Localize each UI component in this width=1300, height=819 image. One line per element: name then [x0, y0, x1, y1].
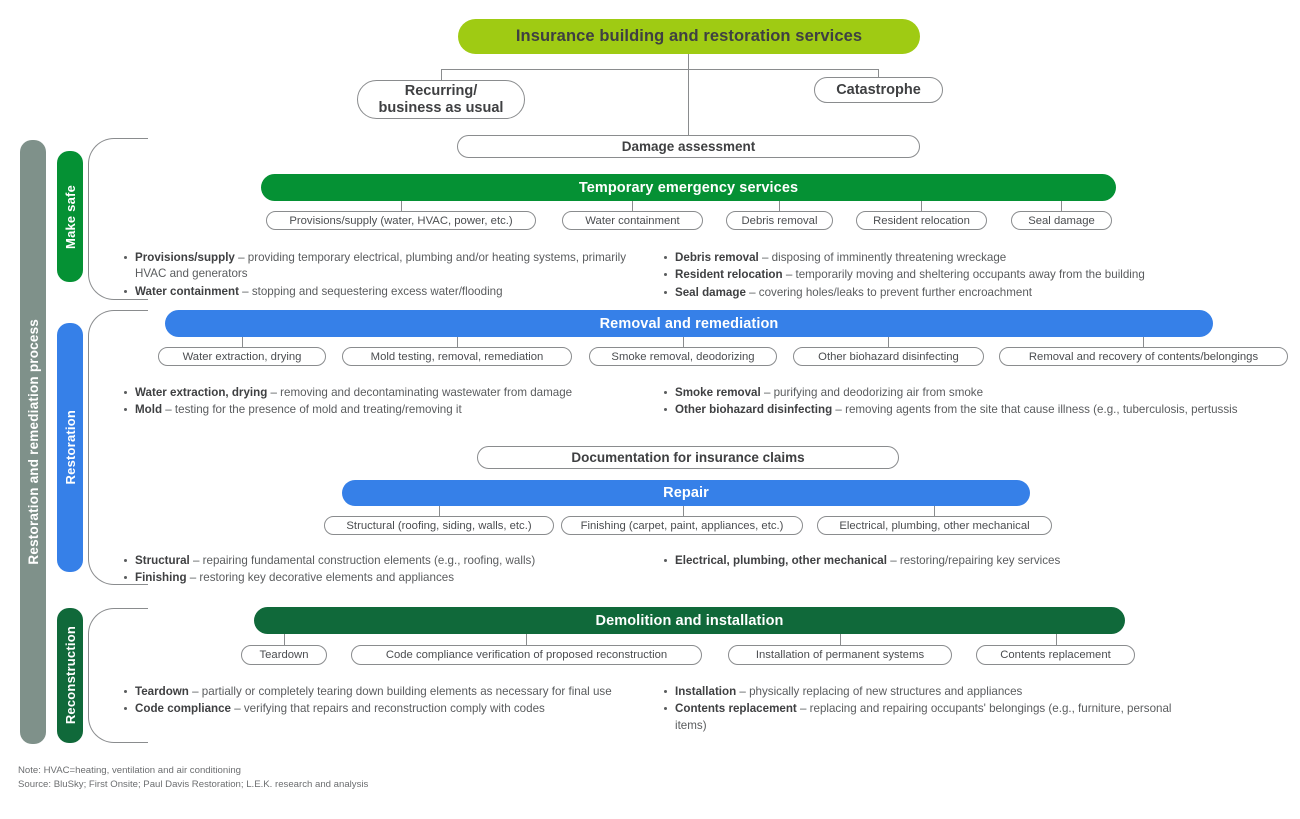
branch-recurring-label: Recurring/business as usual [379, 83, 504, 116]
bullet-item: Seal damage – covering holes/leaks to pr… [662, 285, 1222, 301]
section-bar-demolition-and-installation: Demolition and installation [254, 607, 1125, 634]
section-bar-temporary-emergency-services: Temporary emergency services [261, 174, 1116, 201]
child-pill-label: Provisions/supply (water, HVAC, power, e… [289, 215, 512, 227]
connector-s3-c3 [1056, 634, 1057, 645]
child-pill-label: Teardown [260, 649, 309, 661]
child-pill[interactable]: Other biohazard disinfecting [793, 347, 984, 366]
bullet-item: Contents replacement – replacing and rep… [662, 701, 1192, 734]
bullet-item: Smoke removal – purifying and deodorizin… [662, 385, 1247, 401]
documentation-pill[interactable]: Documentation for insurance claims [477, 446, 899, 469]
child-pill-label: Seal damage [1028, 215, 1095, 227]
branch-catastrophe[interactable]: Catastrophe [814, 77, 943, 103]
child-pill[interactable]: Removal and recovery of contents/belongi… [999, 347, 1288, 366]
bullet-term: Provisions/supply [135, 251, 235, 264]
child-pill[interactable]: Resident relocation [856, 211, 987, 230]
bullet-item: Resident relocation – temporarily moving… [662, 267, 1222, 283]
section-rail-reconstruction-label: Reconstruction [63, 626, 78, 724]
bullet-item: Water extraction, drying – removing and … [122, 385, 647, 401]
connector-s2b-c1 [683, 506, 684, 516]
bullet-term: Debris removal [675, 251, 759, 264]
bullet-term: Water extraction, drying [135, 386, 267, 399]
section-bracket-reconstruction [88, 608, 148, 743]
bullets-removal-right: Smoke removal – purifying and deodorizin… [662, 385, 1247, 420]
connector-title-spine [441, 69, 879, 70]
bullet-desc: – purifying and deodorizing air from smo… [761, 386, 983, 399]
child-pill[interactable]: Provisions/supply (water, HVAC, power, e… [266, 211, 536, 230]
child-pill-label: Code compliance verification of proposed… [386, 649, 667, 661]
bullet-item: Installation – physically replacing of n… [662, 684, 1192, 700]
bullet-item: Electrical, plumbing, other mechanical –… [662, 553, 1222, 569]
connector-s1-c4 [1061, 201, 1062, 211]
documentation-label: Documentation for insurance claims [571, 450, 804, 465]
branch-recurring[interactable]: Recurring/business as usual [357, 80, 525, 119]
child-pill[interactable]: Water containment [562, 211, 703, 230]
bullets-reconstruction-left: Teardown – partially or completely teari… [122, 684, 642, 719]
child-pill-label: Resident relocation [873, 215, 970, 227]
child-pill-label: Water containment [585, 215, 679, 227]
connector-s2-c0 [242, 337, 243, 347]
child-pill[interactable]: Teardown [241, 645, 327, 665]
bullet-desc: – verifying that repairs and reconstruct… [231, 702, 545, 715]
bullet-item: Finishing – restoring key decorative ele… [122, 570, 647, 586]
bullet-item: Provisions/supply – providing temporary … [122, 250, 647, 283]
child-pill-label: Finishing (carpet, paint, appliances, et… [581, 520, 784, 532]
bullet-desc: – testing for the presence of mold and t… [162, 403, 462, 416]
bullet-term: Electrical, plumbing, other mechanical [675, 554, 887, 567]
child-pill[interactable]: Code compliance verification of proposed… [351, 645, 702, 665]
child-pill[interactable]: Electrical, plumbing, other mechanical [817, 516, 1052, 535]
bullet-term: Teardown [135, 685, 189, 698]
child-pill-label: Smoke removal, deodorizing [611, 351, 754, 363]
bullet-desc: – disposing of imminently threatening wr… [759, 251, 1006, 264]
child-pill-label: Other biohazard disinfecting [818, 351, 959, 363]
bullet-term: Water containment [135, 285, 239, 298]
child-pill[interactable]: Seal damage [1011, 211, 1112, 230]
bullet-desc: – repairing fundamental construction ele… [190, 554, 535, 567]
connector-s3-c2 [840, 634, 841, 645]
bullet-item: Water containment – stopping and sequest… [122, 284, 647, 300]
bullets-make-safe-right: Debris removal – disposing of imminently… [662, 250, 1222, 302]
footnote-note: Note: HVAC=heating, ventilation and air … [18, 764, 818, 778]
bullets-repair-right: Electrical, plumbing, other mechanical –… [662, 553, 1222, 570]
child-pill[interactable]: Debris removal [726, 211, 833, 230]
connector-s2b-c0 [439, 506, 440, 516]
connector-s3-c0 [284, 634, 285, 645]
footnote-source: Source: BluSky; First Onsite; Paul Davis… [18, 778, 818, 792]
child-pill[interactable]: Finishing (carpet, paint, appliances, et… [561, 516, 803, 535]
connector-title-stem [688, 54, 689, 69]
diagram-title: Insurance building and restoration servi… [516, 27, 862, 46]
section-bar-repair: Repair [342, 480, 1030, 506]
connector-s2-c2 [683, 337, 684, 347]
bullet-term: Mold [135, 403, 162, 416]
bullet-term: Code compliance [135, 702, 231, 715]
child-pill-label: Water extraction, drying [183, 351, 302, 363]
bullet-desc: – temporarily moving and sheltering occu… [783, 268, 1145, 281]
bullet-item: Code compliance – verifying that repairs… [122, 701, 642, 717]
child-pill[interactable]: Contents replacement [976, 645, 1135, 665]
bullet-item: Debris removal – disposing of imminently… [662, 250, 1222, 266]
section-bar-demolition-and-installation-label: Demolition and installation [596, 613, 784, 629]
connector-s3-c1 [526, 634, 527, 645]
master-process-rail-label: Restoration and remediation process [26, 319, 41, 565]
section-rail-make-safe-label: Make safe [63, 185, 78, 249]
child-pill[interactable]: Installation of permanent systems [728, 645, 952, 665]
bullet-item: Teardown – partially or completely teari… [122, 684, 642, 700]
connector-s2-c4 [1143, 337, 1144, 347]
child-pill[interactable]: Water extraction, drying [158, 347, 326, 366]
connector-s1-c0 [401, 201, 402, 211]
connector-s1-c1 [632, 201, 633, 211]
bullet-term: Seal damage [675, 286, 746, 299]
bullet-term: Other biohazard disinfecting [675, 403, 832, 416]
section-rail-make-safe: Make safe [57, 151, 83, 282]
master-process-rail: Restoration and remediation process [20, 140, 46, 744]
damage-assessment-label: Damage assessment [622, 139, 756, 154]
bullet-item: Structural – repairing fundamental const… [122, 553, 647, 569]
child-pill[interactable]: Smoke removal, deodorizing [589, 347, 777, 366]
section-bar-removal-and-remediation: Removal and remediation [165, 310, 1213, 337]
bullet-desc: – physically replacing of new structures… [736, 685, 1022, 698]
footnote-block: Note: HVAC=heating, ventilation and air … [18, 764, 818, 792]
bullet-term: Contents replacement [675, 702, 797, 715]
child-pill-label: Removal and recovery of contents/belongi… [1029, 351, 1258, 363]
diagram-canvas: Restoration and remediation process Insu… [0, 0, 1300, 819]
connector-s2-c1 [457, 337, 458, 347]
section-bracket-restoration [88, 310, 148, 585]
child-pill-label: Installation of permanent systems [756, 649, 924, 661]
bullet-desc: – stopping and sequestering excess water… [239, 285, 503, 298]
bullet-term: Structural [135, 554, 190, 567]
bullet-item: Other biohazard disinfecting – removing … [662, 402, 1247, 418]
child-pill-label: Mold testing, removal, remediation [371, 351, 544, 363]
bullets-removal-left: Water extraction, drying – removing and … [122, 385, 647, 420]
section-bar-removal-and-remediation-label: Removal and remediation [600, 316, 779, 332]
bullet-desc: – removing agents from the site that cau… [832, 403, 1237, 416]
connector-s1-c2 [779, 201, 780, 211]
bullet-term: Smoke removal [675, 386, 761, 399]
diagram-title-bar: Insurance building and restoration servi… [458, 19, 920, 54]
bullet-term: Finishing [135, 571, 187, 584]
child-pill-label: Electrical, plumbing, other mechanical [839, 520, 1029, 532]
child-pill[interactable]: Mold testing, removal, remediation [342, 347, 572, 366]
section-bar-repair-label: Repair [663, 485, 709, 501]
bullet-item: Mold – testing for the presence of mold … [122, 402, 647, 418]
child-pill-label: Debris removal [742, 215, 818, 227]
bullets-reconstruction-right: Installation – physically replacing of n… [662, 684, 1192, 735]
bullet-desc: – partially or completely tearing down b… [189, 685, 612, 698]
child-pill[interactable]: Structural (roofing, siding, walls, etc.… [324, 516, 554, 535]
damage-assessment-pill[interactable]: Damage assessment [457, 135, 920, 158]
bullet-desc: – removing and decontaminating wastewate… [267, 386, 572, 399]
child-pill-label: Structural (roofing, siding, walls, etc.… [346, 520, 531, 532]
bullets-make-safe-left: Provisions/supply – providing temporary … [122, 250, 647, 301]
bullets-repair-left: Structural – repairing fundamental const… [122, 553, 647, 588]
connector-s2-c3 [888, 337, 889, 347]
bullet-term: Installation [675, 685, 736, 698]
section-bar-temporary-emergency-services-label: Temporary emergency services [579, 180, 798, 196]
section-rail-restoration: Restoration [57, 323, 83, 572]
connector-s2b-c2 [934, 506, 935, 516]
bullet-desc: – covering holes/leaks to prevent furthe… [746, 286, 1032, 299]
connector-s1-c3 [921, 201, 922, 211]
bullet-term: Resident relocation [675, 268, 783, 281]
bullet-desc: – restoring key decorative elements and … [187, 571, 454, 584]
bullet-desc: – restoring/repairing key services [887, 554, 1060, 567]
connector-title-down [688, 69, 689, 137]
section-rail-reconstruction: Reconstruction [57, 608, 83, 743]
branch-catastrophe-label: Catastrophe [836, 82, 921, 99]
child-pill-label: Contents replacement [1000, 649, 1111, 661]
section-rail-restoration-label: Restoration [63, 410, 78, 484]
